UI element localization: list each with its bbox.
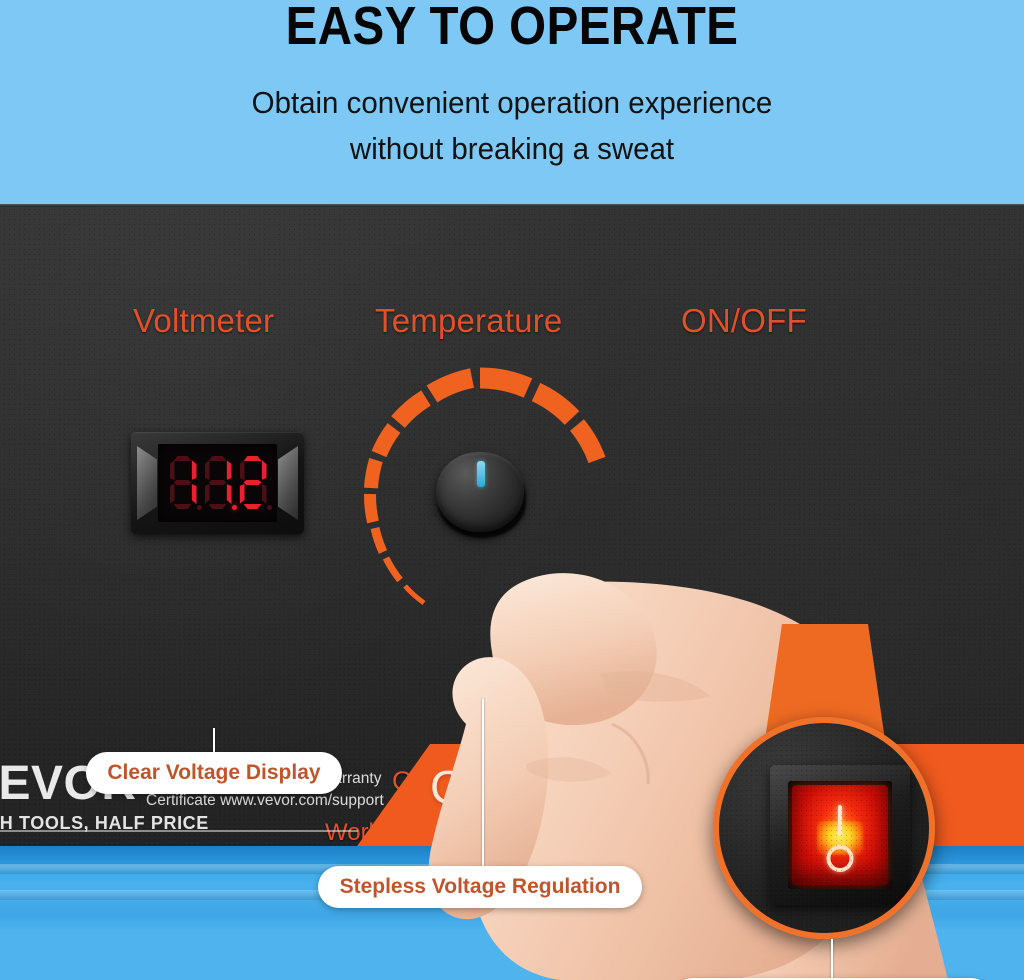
callout-leader-line [831, 939, 833, 979]
callout-leader-line [213, 728, 215, 754]
voltmeter-bezel-right-chamfer [278, 446, 298, 520]
rocker-switch-lamp-glow [817, 821, 863, 855]
product-feature-image: EASY TO OPERATE Obtain convenient operat… [0, 0, 1024, 980]
dial-min-underline [578, 613, 640, 617]
temperature-panel-label: Temperature [375, 302, 562, 340]
header-subtitle: Obtain convenient operation experience w… [26, 80, 999, 172]
knob-position-indicator [477, 461, 485, 487]
callout-stepless-voltage-regulation: Stepless Voltage Regulation [318, 866, 642, 908]
dial-min-label: Min [585, 581, 630, 613]
rocker-switch-frame [770, 765, 910, 905]
vevor-divider [0, 830, 358, 832]
subtitle-line-2: without breaking a sweat [26, 126, 999, 172]
onoff-panel-label: ON/OFF [681, 302, 807, 340]
voltmeter-panel-label: Voltmeter [133, 302, 274, 340]
power-on-symbol-icon [838, 805, 842, 835]
page-title: EASY TO OPERATE [61, 0, 962, 55]
temperature-knob[interactable] [436, 452, 528, 540]
callout-leader-line [482, 699, 484, 867]
voltmeter-display [131, 432, 304, 534]
temperature-dial[interactable] [358, 356, 608, 636]
seven-segment-digit [168, 456, 198, 510]
seven-segment-digit [238, 456, 268, 510]
seven-segment-digit [203, 456, 233, 510]
product-name-text: Cotton Ca [430, 760, 642, 814]
rocker-switch-magnifier [713, 717, 935, 939]
power-off-symbol-icon [827, 845, 854, 872]
header-banner: EASY TO OPERATE Obtain convenient operat… [0, 0, 1024, 204]
product-photo: Voltmeter Temperature ON/OFF [0, 204, 1024, 980]
voltmeter-screen [158, 444, 277, 522]
rocker-switch-lens[interactable] [792, 785, 888, 885]
rocker-switch-recess [788, 781, 892, 889]
voltmeter-bezel-left-chamfer [137, 446, 157, 520]
subtitle-line-1: Obtain convenient operation experience [26, 80, 999, 126]
panel-top-edge [0, 204, 1024, 207]
callout-clear-voltage-display: Clear Voltage Display [86, 752, 342, 794]
